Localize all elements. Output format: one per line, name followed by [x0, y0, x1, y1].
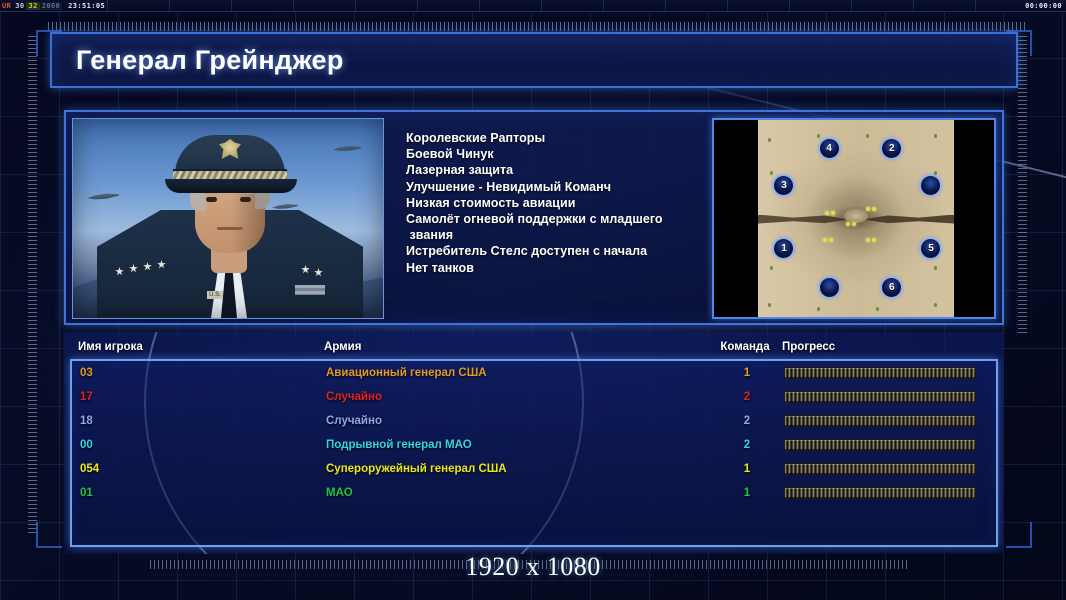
- ability-line: Боевой Чинук: [406, 146, 702, 162]
- player-name: 18: [80, 415, 326, 427]
- column-header-progress: Прогресс: [782, 341, 976, 353]
- player-progress: [784, 463, 978, 475]
- ability-line: Истребитель Стелс доступен с начала: [406, 243, 702, 259]
- general-abilities-list: Королевские РапторыБоевой ЧинукЛазерная …: [384, 118, 712, 317]
- map-start-position-1[interactable]: 1: [774, 239, 793, 258]
- player-army[interactable]: МАО: [326, 487, 710, 499]
- player-name: 17: [80, 391, 326, 403]
- tree-icon: [770, 171, 773, 175]
- ability-line: Лазерная защита: [406, 162, 702, 178]
- progress-bar: [784, 487, 976, 499]
- player-name: 054: [80, 463, 326, 475]
- supply-pile-icon: [866, 238, 870, 242]
- table-row[interactable]: 18Случайно2: [72, 409, 996, 433]
- portrait-vignette: [73, 119, 383, 318]
- tree-icon: [934, 134, 937, 138]
- supply-pile-icon: [852, 222, 856, 226]
- status-seg-fps: 30: [13, 2, 26, 10]
- tree-icon: [866, 134, 869, 138]
- page-title: Генерал Грейнджер: [52, 45, 344, 76]
- player-progress: [784, 367, 978, 379]
- supply-pile-icon: [831, 211, 835, 215]
- progress-bar: [784, 463, 976, 475]
- column-header-name: Имя игрока: [78, 341, 324, 353]
- table-row[interactable]: 01МАО1: [72, 481, 996, 505]
- table-row[interactable]: 17Случайно2: [72, 385, 996, 409]
- supply-pile-icon: [872, 238, 876, 242]
- status-seg-ur: UR: [0, 2, 13, 10]
- column-header-army: Армия: [324, 341, 708, 353]
- players-table-header: Имя игрока Армия Команда Прогресс: [64, 332, 1004, 356]
- progress-bar: [784, 391, 976, 403]
- map-start-position-4[interactable]: 4: [820, 139, 839, 158]
- map-start-position-5[interactable]: 5: [921, 239, 940, 258]
- player-army[interactable]: Супероружейный генерал США: [326, 463, 710, 475]
- map-terrain: 423156: [758, 120, 954, 317]
- progress-bar: [784, 367, 976, 379]
- ability-line: Королевские Рапторы: [406, 130, 702, 146]
- ability-line: Низкая стоимость авиации: [406, 195, 702, 211]
- status-seg-year: 2000: [40, 2, 62, 10]
- player-team[interactable]: 1: [710, 463, 784, 475]
- tree-icon: [770, 266, 773, 270]
- tree-icon: [817, 307, 820, 311]
- header-panel: Генерал Грейнджер: [50, 32, 1018, 88]
- tree-icon: [768, 138, 771, 142]
- player-progress: [784, 415, 978, 427]
- player-team[interactable]: 2: [710, 439, 784, 451]
- frame-corner-bottom-left: [36, 522, 62, 548]
- player-progress: [784, 487, 978, 499]
- column-header-team: Команда: [708, 341, 782, 353]
- tree-icon: [876, 307, 879, 311]
- progress-bar: [784, 439, 976, 451]
- player-name: 01: [80, 487, 326, 499]
- player-progress: [784, 391, 978, 403]
- supply-pile-icon: [872, 207, 876, 211]
- supply-pile-icon: [823, 238, 827, 242]
- map-start-position-7[interactable]: [820, 278, 839, 297]
- map-start-position-2[interactable]: 2: [882, 139, 901, 158]
- map-pond-icon: [844, 209, 868, 223]
- player-name: 00: [80, 439, 326, 451]
- status-right-clock: 00:00:00: [1025, 2, 1066, 10]
- supply-pile-icon: [866, 207, 870, 211]
- player-name: 03: [80, 367, 326, 379]
- tree-icon: [934, 303, 937, 307]
- ruler-top-icon: [48, 22, 1028, 31]
- tree-icon: [934, 266, 937, 270]
- status-bar-grid-fill: [107, 0, 1025, 11]
- ruler-left-icon: [28, 36, 37, 536]
- ruler-right-icon: [1018, 36, 1027, 336]
- supply-pile-icon: [829, 238, 833, 242]
- resolution-label: 1920 x 1080: [0, 552, 1066, 582]
- players-panel: Имя игрока Армия Команда Прогресс 03Авиа…: [64, 332, 1004, 554]
- tree-icon: [768, 303, 771, 307]
- ability-line: Нет танков: [406, 260, 702, 276]
- general-info-panel: U.S. Королевские РапторыБоевой ЧинукЛазе…: [64, 110, 1004, 325]
- supply-pile-icon: [825, 211, 829, 215]
- player-army[interactable]: Авиационный генерал США: [326, 367, 710, 379]
- supply-pile-icon: [846, 222, 850, 226]
- status-seg-ping: 32: [26, 2, 39, 10]
- players-table-body: 03Авиационный генерал США117Случайно218С…: [70, 359, 998, 547]
- player-progress: [784, 439, 978, 451]
- player-team[interactable]: 2: [710, 391, 784, 403]
- frame-corner-bottom-right: [1006, 522, 1032, 548]
- status-left-clock: 23:51:05: [66, 2, 107, 10]
- player-team[interactable]: 1: [710, 367, 784, 379]
- progress-bar: [784, 415, 976, 427]
- map-start-position-3[interactable]: 3: [774, 176, 793, 195]
- player-team[interactable]: 2: [710, 415, 784, 427]
- map-preview[interactable]: 423156: [712, 118, 996, 319]
- player-team[interactable]: 1: [710, 487, 784, 499]
- ability-line: Улучшение - Невидимый Команч: [406, 179, 702, 195]
- tree-icon: [817, 134, 820, 138]
- player-army[interactable]: Случайно: [326, 391, 710, 403]
- tree-icon: [934, 171, 937, 175]
- player-army[interactable]: Подрывной генерал МАО: [326, 439, 710, 451]
- top-status-bar: UR 30 32 2000 23:51:05 00:00:00: [0, 0, 1066, 12]
- ability-line: Самолёт огневой поддержки с младшего зва…: [406, 211, 702, 243]
- map-start-position-4[interactable]: [921, 176, 940, 195]
- player-army[interactable]: Случайно: [326, 415, 710, 427]
- table-row[interactable]: 03Авиационный генерал США1: [72, 361, 996, 385]
- table-row[interactable]: 054Супероружейный генерал США1: [72, 457, 996, 481]
- table-row[interactable]: 00Подрывной генерал МАО2: [72, 433, 996, 457]
- general-portrait: U.S.: [72, 118, 384, 319]
- map-start-position-6[interactable]: 6: [882, 278, 901, 297]
